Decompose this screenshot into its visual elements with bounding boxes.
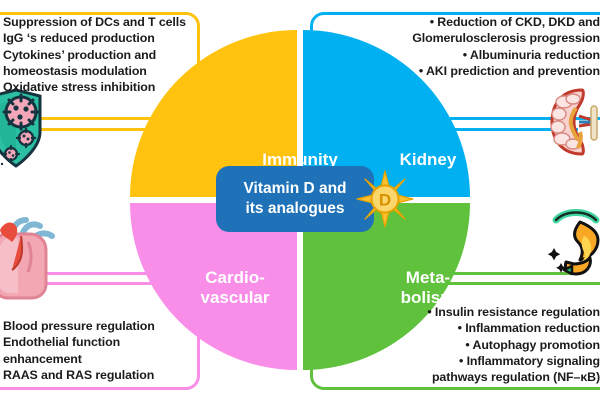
kidney-anatomy-icon (546, 86, 600, 158)
heart-anatomy-icon (0, 212, 58, 302)
center-badge-text: Vitamin D and its analogues (243, 179, 346, 219)
vitamin-d-effects-diagram: Immunity Kidney Cardio- vascular Meta- b… (0, 0, 600, 400)
shield-virus-icon (0, 88, 60, 172)
center-badge-vitamin-d[interactable]: Vitamin D and its analogues (216, 166, 374, 232)
text-block-kidney: • Reduction of CKD, DKD and Glomeruloscl… (412, 14, 600, 79)
cardiovascular-bullet-3: RAAS and RAS regulation (3, 367, 155, 383)
metabolism-bullet-2: • Autophagy promotion (427, 337, 600, 353)
metabolism-bullet-4: pathways regulation (NF–κB) (427, 369, 600, 385)
cardiovascular-bullet-0: Blood pressure regulation (3, 318, 155, 334)
immunity-bullet-0: Suppression of DCs and T cells (3, 14, 186, 30)
immunity-bullet-3: homeostasis modulation (3, 63, 186, 79)
kidney-bullet-3: • AKI prediction and prevention (412, 63, 600, 79)
kidney-bullet-1: Glomerulosclerosis progression (412, 30, 600, 46)
sun-icon-letter: D (379, 191, 391, 210)
immunity-bullet-2: Cytokines’ production and (3, 47, 186, 63)
metabolism-bullet-0: • Insulin resistance regulation (427, 304, 600, 320)
quadrant-label-metabolism-line1: Meta- (363, 268, 493, 288)
quadrant-label-metabolism: Meta- bolism (363, 268, 493, 308)
immunity-bullet-1: IgG ‘s reduced production (3, 30, 186, 46)
kidney-bullet-0: • Reduction of CKD, DKD and (412, 14, 600, 30)
quadrant-label-cardiovascular-line1: Cardio- (170, 268, 300, 288)
flame-metabolism-icon (534, 208, 600, 288)
text-block-immunity: Suppression of DCs and T cells IgG ‘s re… (3, 14, 186, 95)
quadrant-label-kidney: Kidney (363, 150, 493, 170)
immunity-bullet-4: Oxidative stress inhibition (3, 79, 186, 95)
cardiovascular-bullet-1: Endothelial function (3, 334, 155, 350)
center-badge-line1: Vitamin D and (243, 179, 346, 199)
center-badge-line2: its analogues (243, 199, 346, 219)
metabolism-bullet-3: • Inflammatory signaling (427, 353, 600, 369)
text-block-cardiovascular: Blood pressure regulation Endothelial fu… (3, 318, 155, 383)
cardiovascular-bullet-2: enhancement (3, 351, 155, 367)
text-block-metabolism: • Insulin resistance regulation • Inflam… (427, 304, 600, 385)
quadrant-label-cardiovascular: Cardio- vascular (170, 268, 300, 308)
metabolism-bullet-1: • Inflammation reduction (427, 320, 600, 336)
sun-vitamin-d-icon: D (356, 170, 414, 228)
quadrant-label-kidney-line1: Kidney (363, 150, 493, 170)
quadrant-label-cardiovascular-line2: vascular (170, 288, 300, 308)
kidney-bullet-2: • Albuminuria reduction (412, 47, 600, 63)
